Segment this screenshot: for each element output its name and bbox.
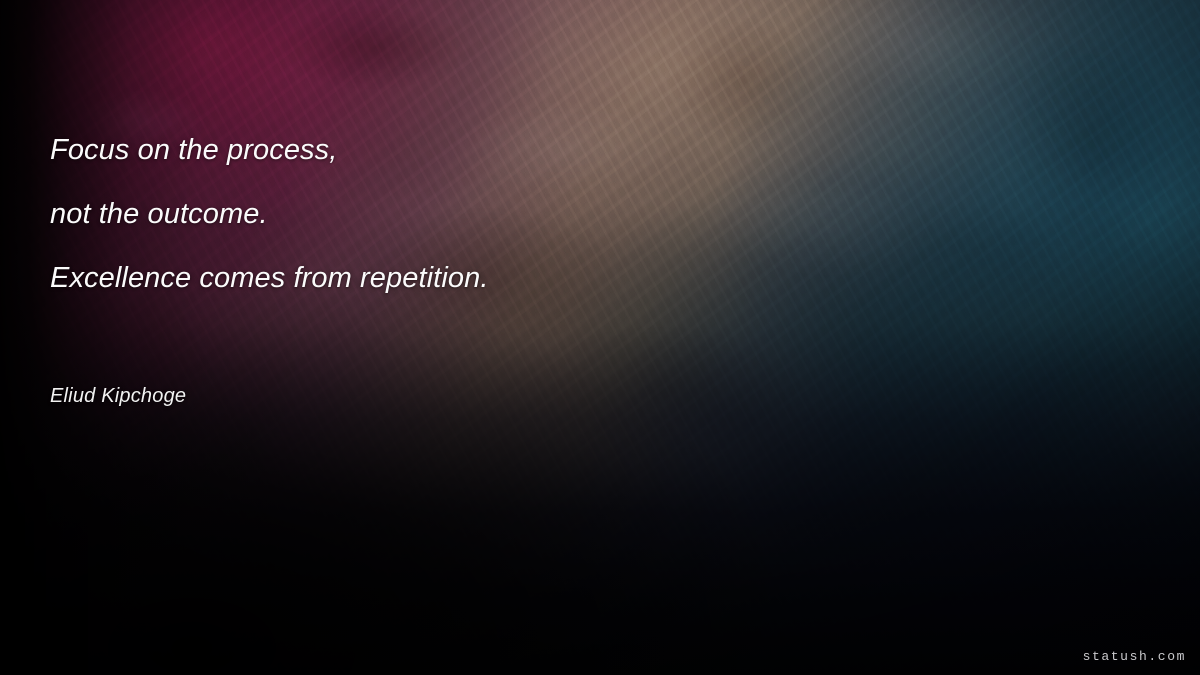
- card-content: Focus on the process, not the outcome. E…: [0, 0, 1200, 675]
- quote-line-3: Excellence comes from repetition.: [50, 246, 1050, 310]
- quote-line-1: Focus on the process,: [50, 118, 1050, 182]
- quote-line-2: not the outcome.: [50, 182, 1050, 246]
- site-watermark: statush.com: [1083, 649, 1186, 664]
- quote-card: Focus on the process, not the outcome. E…: [0, 0, 1200, 675]
- quote-text: Focus on the process, not the outcome. E…: [50, 118, 1050, 310]
- quote-author: Eliud Kipchoge: [50, 385, 186, 408]
